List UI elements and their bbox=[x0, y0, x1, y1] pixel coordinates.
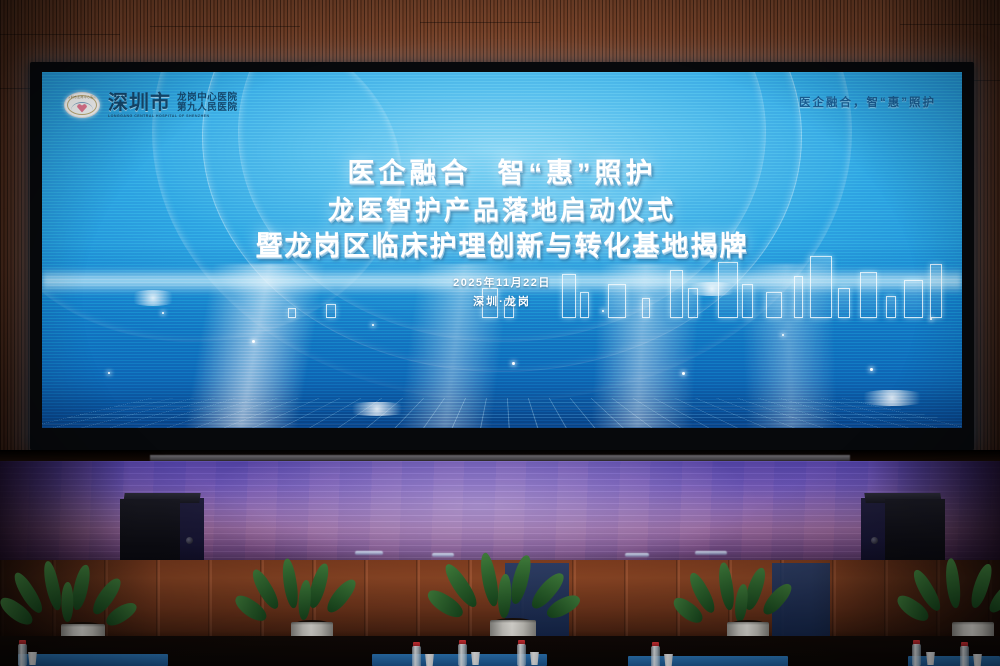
led-screen: 深圳市龙岗中心医院 深圳市 龙岗中心医院 第九人民医院 LONGGANG CEN… bbox=[42, 72, 962, 428]
table-cloth bbox=[908, 656, 1000, 666]
floor-marker bbox=[625, 553, 649, 557]
logo-text-block: 深圳市 龙岗中心医院 第九人民医院 LONGGANG CENTRAL HOSPI… bbox=[108, 93, 238, 118]
headline-line-1-right: 智“惠”照护 bbox=[498, 158, 657, 188]
screen-top-right-slogan: 医企融合，智“惠”照护 bbox=[799, 94, 936, 110]
table-cloth bbox=[18, 654, 168, 666]
logo-english-name: LONGGANG CENTRAL HOSPITAL OF SHENZHEN bbox=[108, 114, 238, 118]
headline-line-3: 暨龙岗区临床护理创新与转化基地揭牌 bbox=[42, 231, 962, 263]
logo-city-name: 深圳市 bbox=[108, 93, 171, 113]
headline-line-1: 医企融合智“惠”照护 bbox=[42, 158, 962, 190]
hospital-logo: 深圳市龙岗中心医院 深圳市 龙岗中心医院 第九人民医院 LONGGANG CEN… bbox=[64, 92, 238, 118]
floor-marker bbox=[695, 551, 727, 555]
stage-shadow-left bbox=[0, 461, 130, 571]
event-date: 2025年11月22日 bbox=[42, 274, 962, 290]
floor-marker bbox=[355, 551, 383, 555]
headline-line-1-left: 医企融合 bbox=[348, 158, 472, 188]
event-location: 深圳·龙岗 bbox=[42, 293, 962, 309]
logo-hospital-line2: 第九人民医院 bbox=[177, 103, 238, 113]
crest-ring-text: 深圳市龙岗中心医院 bbox=[65, 95, 99, 99]
hospital-crest-icon: 深圳市龙岗中心医院 bbox=[64, 92, 100, 118]
event-headline-block: 医企融合智“惠”照护 龙医智护产品落地启动仪式 暨龙岗区临床护理创新与转化基地揭… bbox=[42, 158, 962, 309]
headline-line-2: 龙医智护产品落地启动仪式 bbox=[42, 195, 962, 226]
conference-hall-scene: 深圳市龙岗中心医院 深圳市 龙岗中心医院 第九人民医院 LONGGANG CEN… bbox=[0, 0, 1000, 666]
event-meta-block: 2025年11月22日 深圳·龙岗 bbox=[42, 274, 962, 309]
